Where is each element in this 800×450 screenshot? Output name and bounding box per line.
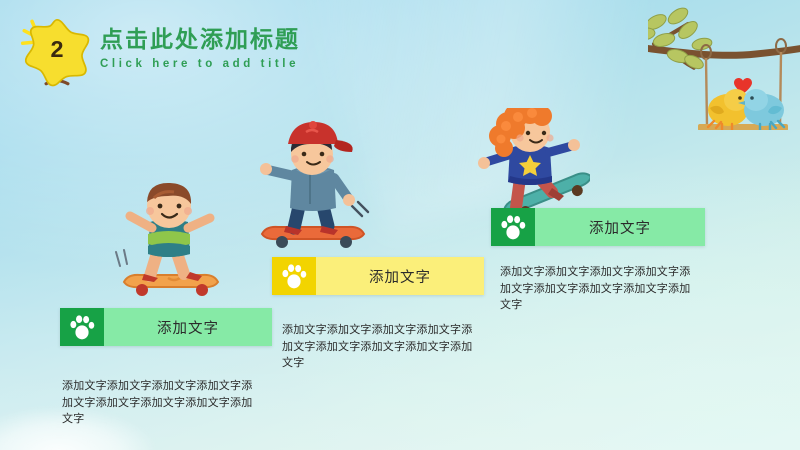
paw-print-icon bbox=[60, 308, 104, 346]
paw-print-icon bbox=[491, 208, 535, 246]
content-card-1[interactable]: 添加文字 bbox=[60, 308, 272, 346]
content-card-3[interactable]: 添加文字 bbox=[491, 208, 705, 246]
paw-print-icon bbox=[272, 257, 316, 295]
boy-on-skateboard-striped-shirt-icon bbox=[110, 178, 230, 298]
boy-on-skateboard-red-cap-icon bbox=[252, 118, 372, 253]
card-body-text-1: 添加文字添加文字添加文字添加文字添加文字添加文字添加文字添加文字添加文字 bbox=[62, 378, 258, 428]
card-title: 添加文字 bbox=[535, 217, 705, 238]
content-card-2[interactable]: 添加文字 bbox=[272, 257, 484, 295]
slide-canvas: 2 点击此处添加标题 Click here to add title bbox=[0, 0, 800, 450]
page-subtitle: Click here to add title bbox=[100, 58, 300, 70]
title-block: 点击此处添加标题 Click here to add title bbox=[100, 28, 300, 70]
card-body-text-3: 添加文字添加文字添加文字添加文字添加文字添加文字添加文字添加文字添加文字 bbox=[500, 264, 700, 314]
page-title: 点击此处添加标题 bbox=[100, 28, 300, 51]
card-title: 添加文字 bbox=[104, 317, 272, 338]
card-body-text-2: 添加文字添加文字添加文字添加文字添加文字添加文字添加文字添加文字添加文字 bbox=[282, 322, 478, 372]
badge-number: 2 bbox=[50, 36, 63, 62]
star-icon: 2 bbox=[18, 12, 96, 90]
two-birds-on-swing-icon bbox=[648, 0, 800, 130]
card-title: 添加文字 bbox=[316, 266, 484, 287]
